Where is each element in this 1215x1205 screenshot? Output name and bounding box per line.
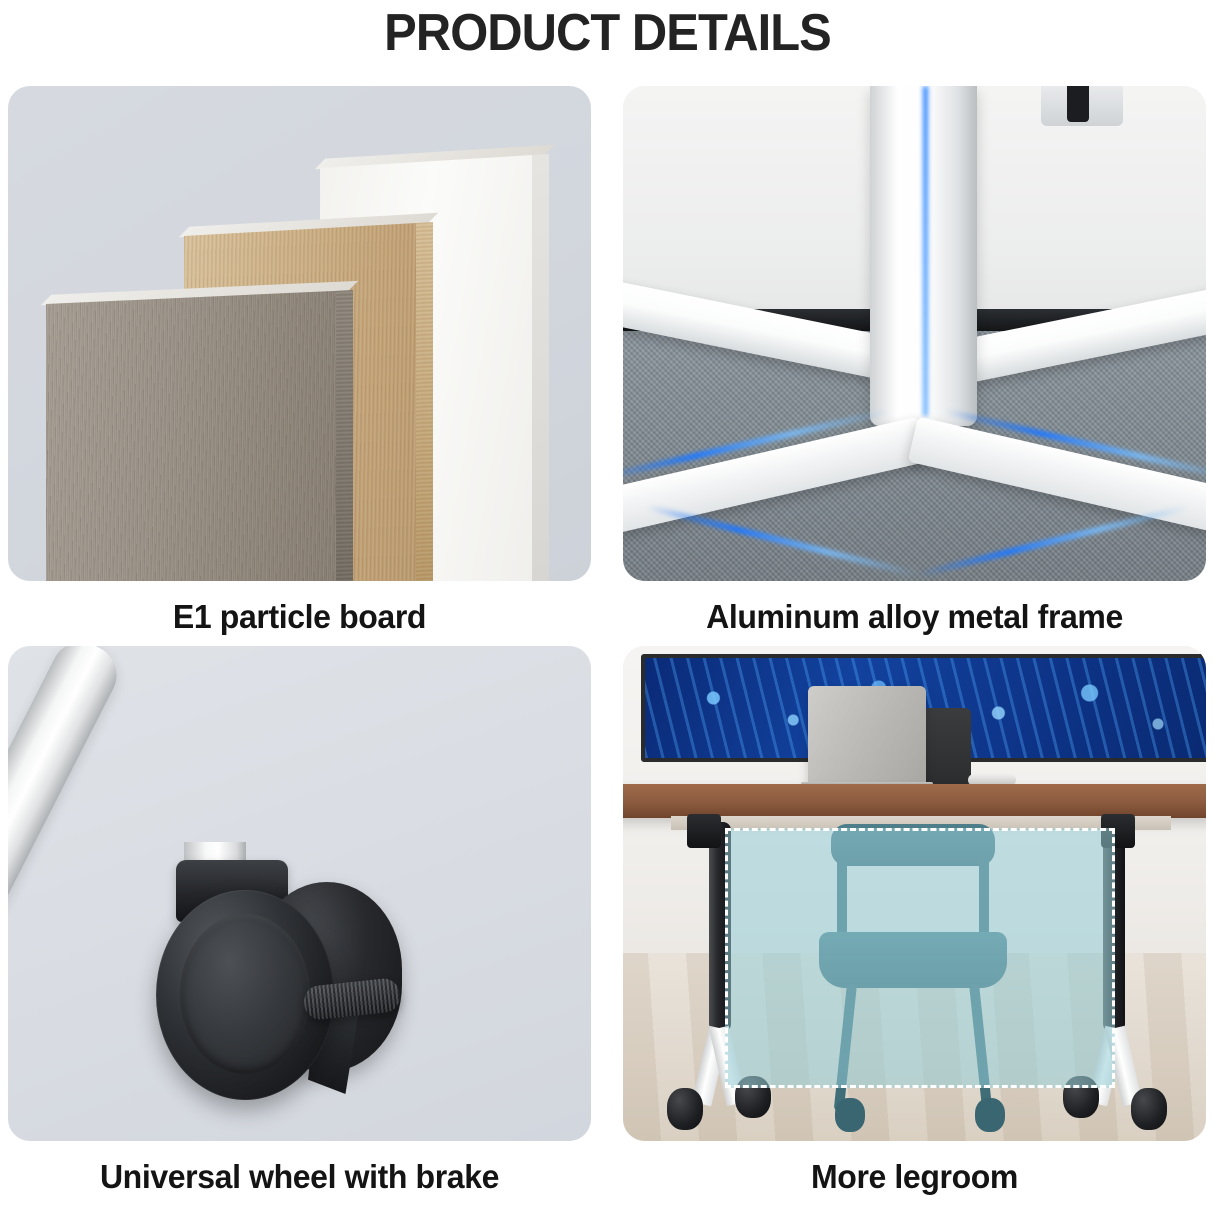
chair-caster-left <box>835 1098 865 1132</box>
particle-board-image <box>8 86 591 581</box>
feature-card-metal-frame[interactable]: Aluminum alloy metal frame <box>623 86 1206 639</box>
far-chair-back <box>923 708 971 790</box>
caption-universal-wheel: Universal wheel with brake <box>17 1155 583 1199</box>
laptop <box>808 686 926 788</box>
feature-card-particle-board[interactable]: E1 particle board <box>8 86 591 639</box>
oak-board-side-edge <box>416 222 433 581</box>
feature-card-universal-wheel[interactable]: Universal wheel with brake <box>8 646 591 1199</box>
page-title: PRODUCT DETAILS <box>36 0 1178 68</box>
column-glow-line <box>923 86 928 416</box>
white-board-side-edge <box>532 154 549 581</box>
white-leg-tube <box>8 646 127 929</box>
legroom-highlight-area <box>725 828 1115 1088</box>
table-caster-right-front <box>1131 1088 1167 1130</box>
table-caster-left-front <box>667 1088 703 1130</box>
frame-hinge <box>1041 86 1123 126</box>
caster-wheel-hub <box>180 914 310 1074</box>
caption-particle-board: E1 particle board <box>17 595 583 639</box>
feature-card-more-legroom[interactable]: More legroom <box>623 646 1206 1199</box>
more-legroom-image <box>623 646 1206 1141</box>
chair-caster-right <box>975 1098 1005 1132</box>
grey-board-face <box>46 291 336 581</box>
leg-bracket-left <box>687 814 721 848</box>
table-top <box>623 784 1206 818</box>
product-details-page: PRODUCT DETAILS <box>0 0 1215 1205</box>
grey-board-side-edge <box>336 290 353 581</box>
grey-board <box>46 291 336 581</box>
caption-metal-frame: Aluminum alloy metal frame <box>632 595 1198 639</box>
feature-card-grid: E1 particle board Aluminum alloy metal <box>8 86 1208 1201</box>
universal-wheel-image <box>8 646 591 1141</box>
metal-frame-image <box>623 86 1206 581</box>
caption-more-legroom: More legroom <box>632 1155 1198 1199</box>
